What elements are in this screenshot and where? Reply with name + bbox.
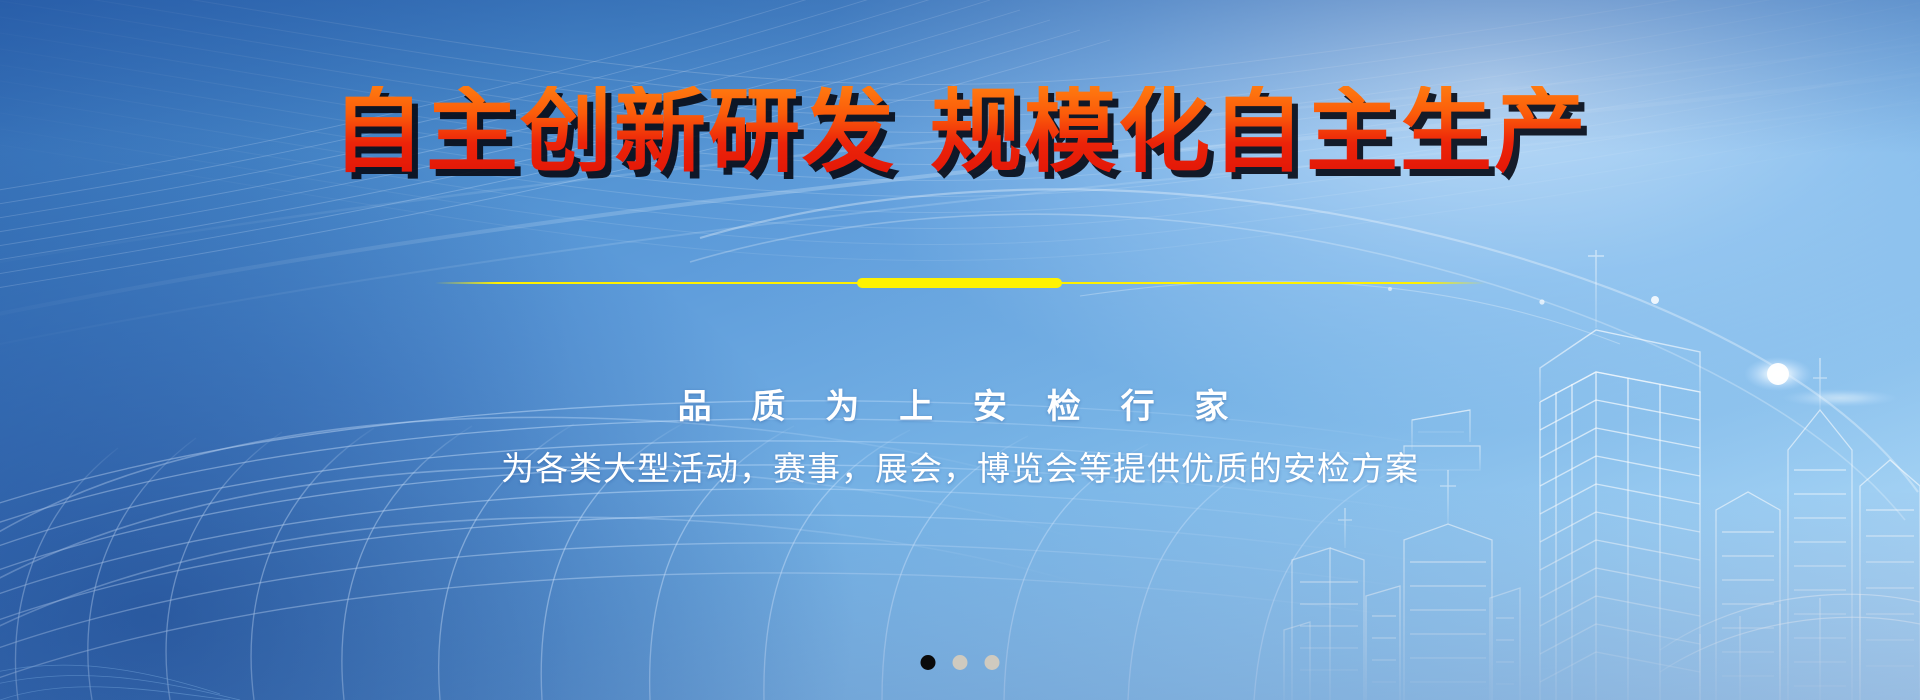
divider (435, 276, 1485, 290)
carousel-dot-2[interactable] (953, 655, 968, 670)
subtitle-wrapper: 品 质 为 上 安 检 行 家 为各类大型活动，赛事，展会，博览会等提供优质的安… (0, 385, 1920, 492)
carousel-dot-3[interactable] (985, 655, 1000, 670)
page-title: 自主创新研发 规模化自主生产 (332, 86, 1588, 178)
subtitle-slogan: 品 质 为 上 安 检 行 家 (0, 385, 1920, 429)
carousel-dot-1[interactable] (921, 655, 936, 670)
subtitle-description: 为各类大型活动，赛事，展会，博览会等提供优质的安检方案 (0, 447, 1920, 492)
title-wrapper: 自主创新研发 规模化自主生产 (0, 86, 1920, 178)
hero-banner: 自主创新研发 规模化自主生产 品 质 为 上 安 检 行 家 为各类大型活动，赛… (0, 0, 1920, 700)
divider-thick-accent (857, 278, 1062, 288)
carousel-indicators[interactable] (921, 655, 1000, 670)
